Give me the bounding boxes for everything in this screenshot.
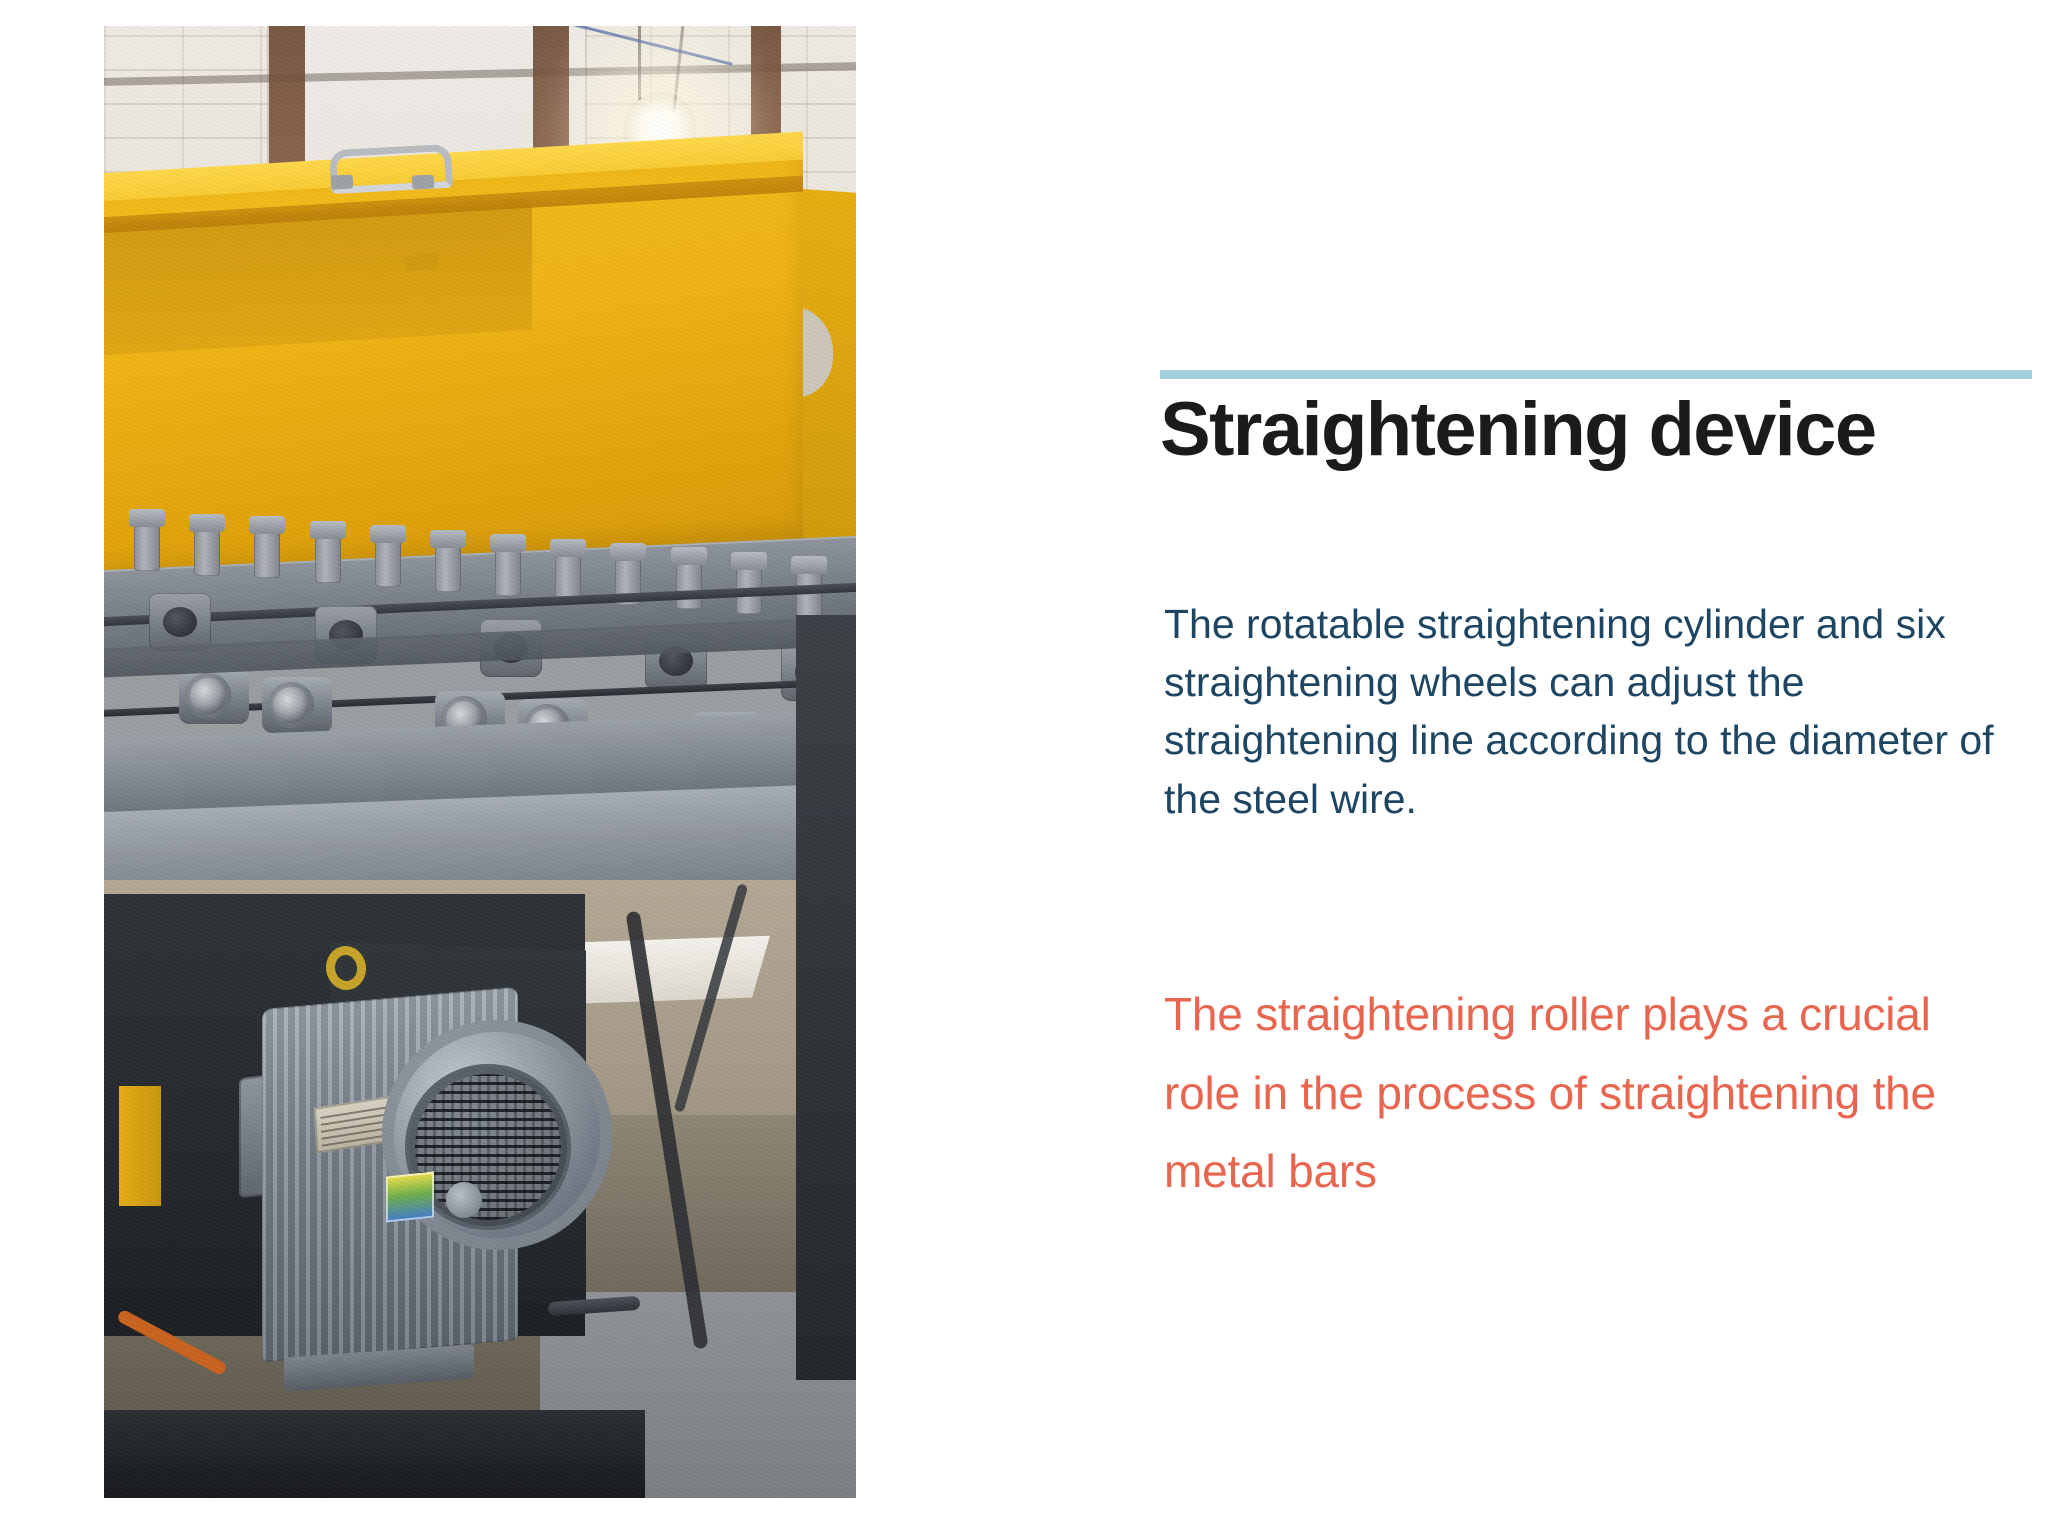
photo-roller-assembly xyxy=(149,593,211,651)
description-paragraph: The rotatable straightening cylinder and… xyxy=(1164,595,2004,828)
photo-hanging-cord xyxy=(638,26,641,100)
photo-adjust-bolt xyxy=(435,540,461,592)
photo-adjust-bolt xyxy=(254,526,280,578)
photo-yellow-cover-mark xyxy=(404,253,439,272)
photo-straightening-wheel xyxy=(262,677,332,733)
photo-adjust-bolt xyxy=(495,544,521,596)
photo-paper-sheet xyxy=(560,935,770,1004)
photo-adjust-bolt xyxy=(134,519,160,571)
photo-adjust-bolt xyxy=(676,557,702,609)
straightening-machine-photo xyxy=(104,26,856,1498)
photo-canvas xyxy=(104,26,856,1498)
title-divider-rule xyxy=(1160,370,2032,379)
slide-root: Straightening device The rotatable strai… xyxy=(0,0,2048,1536)
photo-adjust-bolt xyxy=(315,531,341,583)
photo-lid-handle-mount xyxy=(412,174,435,189)
photo-adjust-bolt xyxy=(194,524,220,576)
photo-lid-handle-mount xyxy=(331,174,354,189)
photo-machine-base xyxy=(104,1410,645,1498)
photo-adjust-bolt xyxy=(375,535,401,587)
photo-motor-sticker xyxy=(386,1172,434,1223)
highlight-paragraph: The straightening roller plays a crucial… xyxy=(1164,975,2004,1211)
page-title: Straightening device xyxy=(1160,392,2040,468)
photo-side-machine xyxy=(796,615,856,1380)
photo-motor-fan-hub xyxy=(446,1182,482,1218)
photo-adjust-bolt xyxy=(555,549,581,601)
photo-yellow-guard xyxy=(119,1086,161,1206)
photo-straightening-wheel xyxy=(179,668,249,724)
